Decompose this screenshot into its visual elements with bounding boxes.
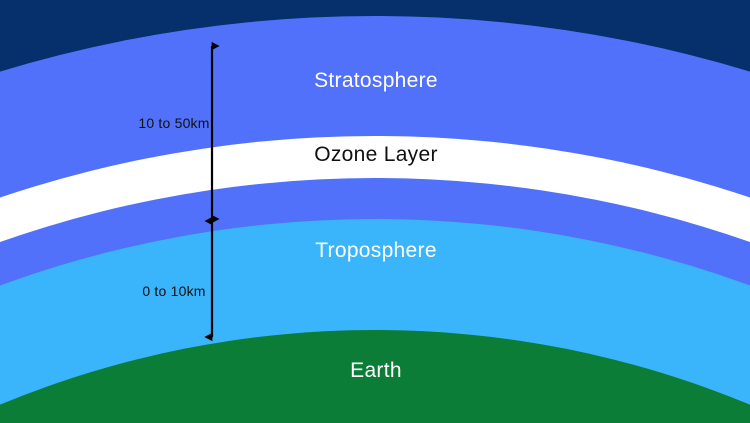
diagram-canvas: 10 to 50km 0 to 10km Stratosphere Ozone … <box>0 0 750 423</box>
atmosphere-diagram: 10 to 50km 0 to 10km Stratosphere Ozone … <box>0 0 750 423</box>
stratosphere-height-label: 10 to 50km <box>138 115 209 131</box>
stratosphere-label: Stratosphere <box>314 69 438 92</box>
troposphere-label: Troposphere <box>315 239 437 262</box>
ozone-layer-label: Ozone Layer <box>314 143 438 166</box>
earth-label: Earth <box>350 359 402 382</box>
troposphere-height-label: 0 to 10km <box>142 283 205 299</box>
